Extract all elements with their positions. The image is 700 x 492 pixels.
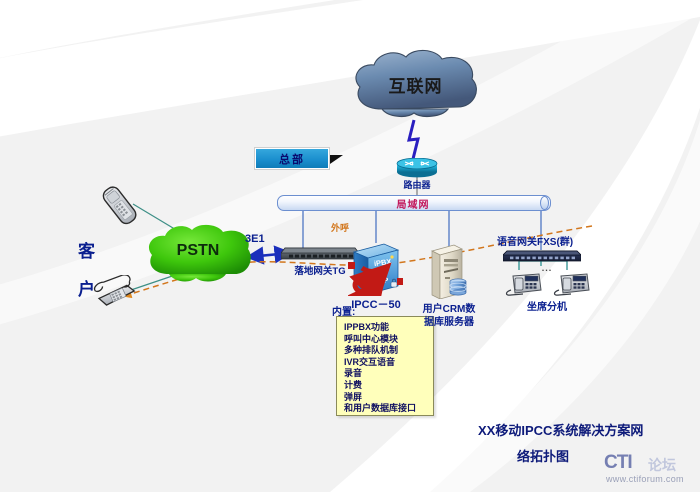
watermark-brand: CTI [604,452,632,474]
feature-item: 呼叫中心模块 [344,334,433,346]
builtin-features-box: IPPBX功能 呼叫中心模块 多种排队机制 IVR交互语音 录音 计费 弹屏 和… [336,316,434,416]
mobile-phone-icon [100,183,140,227]
pstn-cloud: PSTN [143,222,253,286]
agent-phone-icon [503,266,543,296]
ipcc-server-icon: iPBX SIP [348,238,404,296]
diagram-title-line1: XX移动IPCC系统解决方案网 [478,420,643,439]
headquarters-banner-label: 总部 [279,151,305,167]
customer-label-char1: 客 [78,243,95,262]
headquarters-banner-tail [327,155,343,166]
watermark: CTI 论坛 www.ctiforum.com [604,452,698,488]
crm-server-icon [428,243,470,299]
feature-item: 和用户数据库接口 [344,403,433,415]
fxs-gateway-label: 语音网关FXS(群) [497,233,573,248]
headquarters-banner: 总部 [255,148,329,169]
crm-server-label-line2: 据库服务器 [418,313,480,328]
feature-item: IVR交互语音 [344,357,433,369]
pstn-cloud-label: PSTN [143,242,253,260]
watermark-brand-zh: 论坛 [648,455,676,475]
watermark-url: www.ctiforum.com [606,474,684,484]
outbound-call-label: 外呼 [331,224,349,234]
feature-item: 录音 [344,368,433,380]
router-label: 路由器 [396,178,438,191]
agent-extensions-label: 坐席分机 [512,298,582,313]
fxs-gateway-icon [503,248,581,261]
feature-item: 计费 [344,380,433,392]
desk-phone-icon [92,275,138,309]
feature-item: 多种排队机制 [344,345,433,357]
internet-cloud-label: 互联网 [348,72,483,97]
diagram-title-line2: 络拓扑图 [517,446,569,465]
lan-bus-label: 局域网 [277,196,549,211]
agent-phone-icon [551,266,591,296]
feature-item: 弹屏 [344,392,433,404]
diagram-canvas: 互联网 总部 路由器 局域网 PSTN 客 户 [0,0,700,492]
trunk-3e1-label: 3E1 [245,233,265,245]
internet-cloud: 互联网 [348,47,483,122]
router-icon [396,158,438,178]
